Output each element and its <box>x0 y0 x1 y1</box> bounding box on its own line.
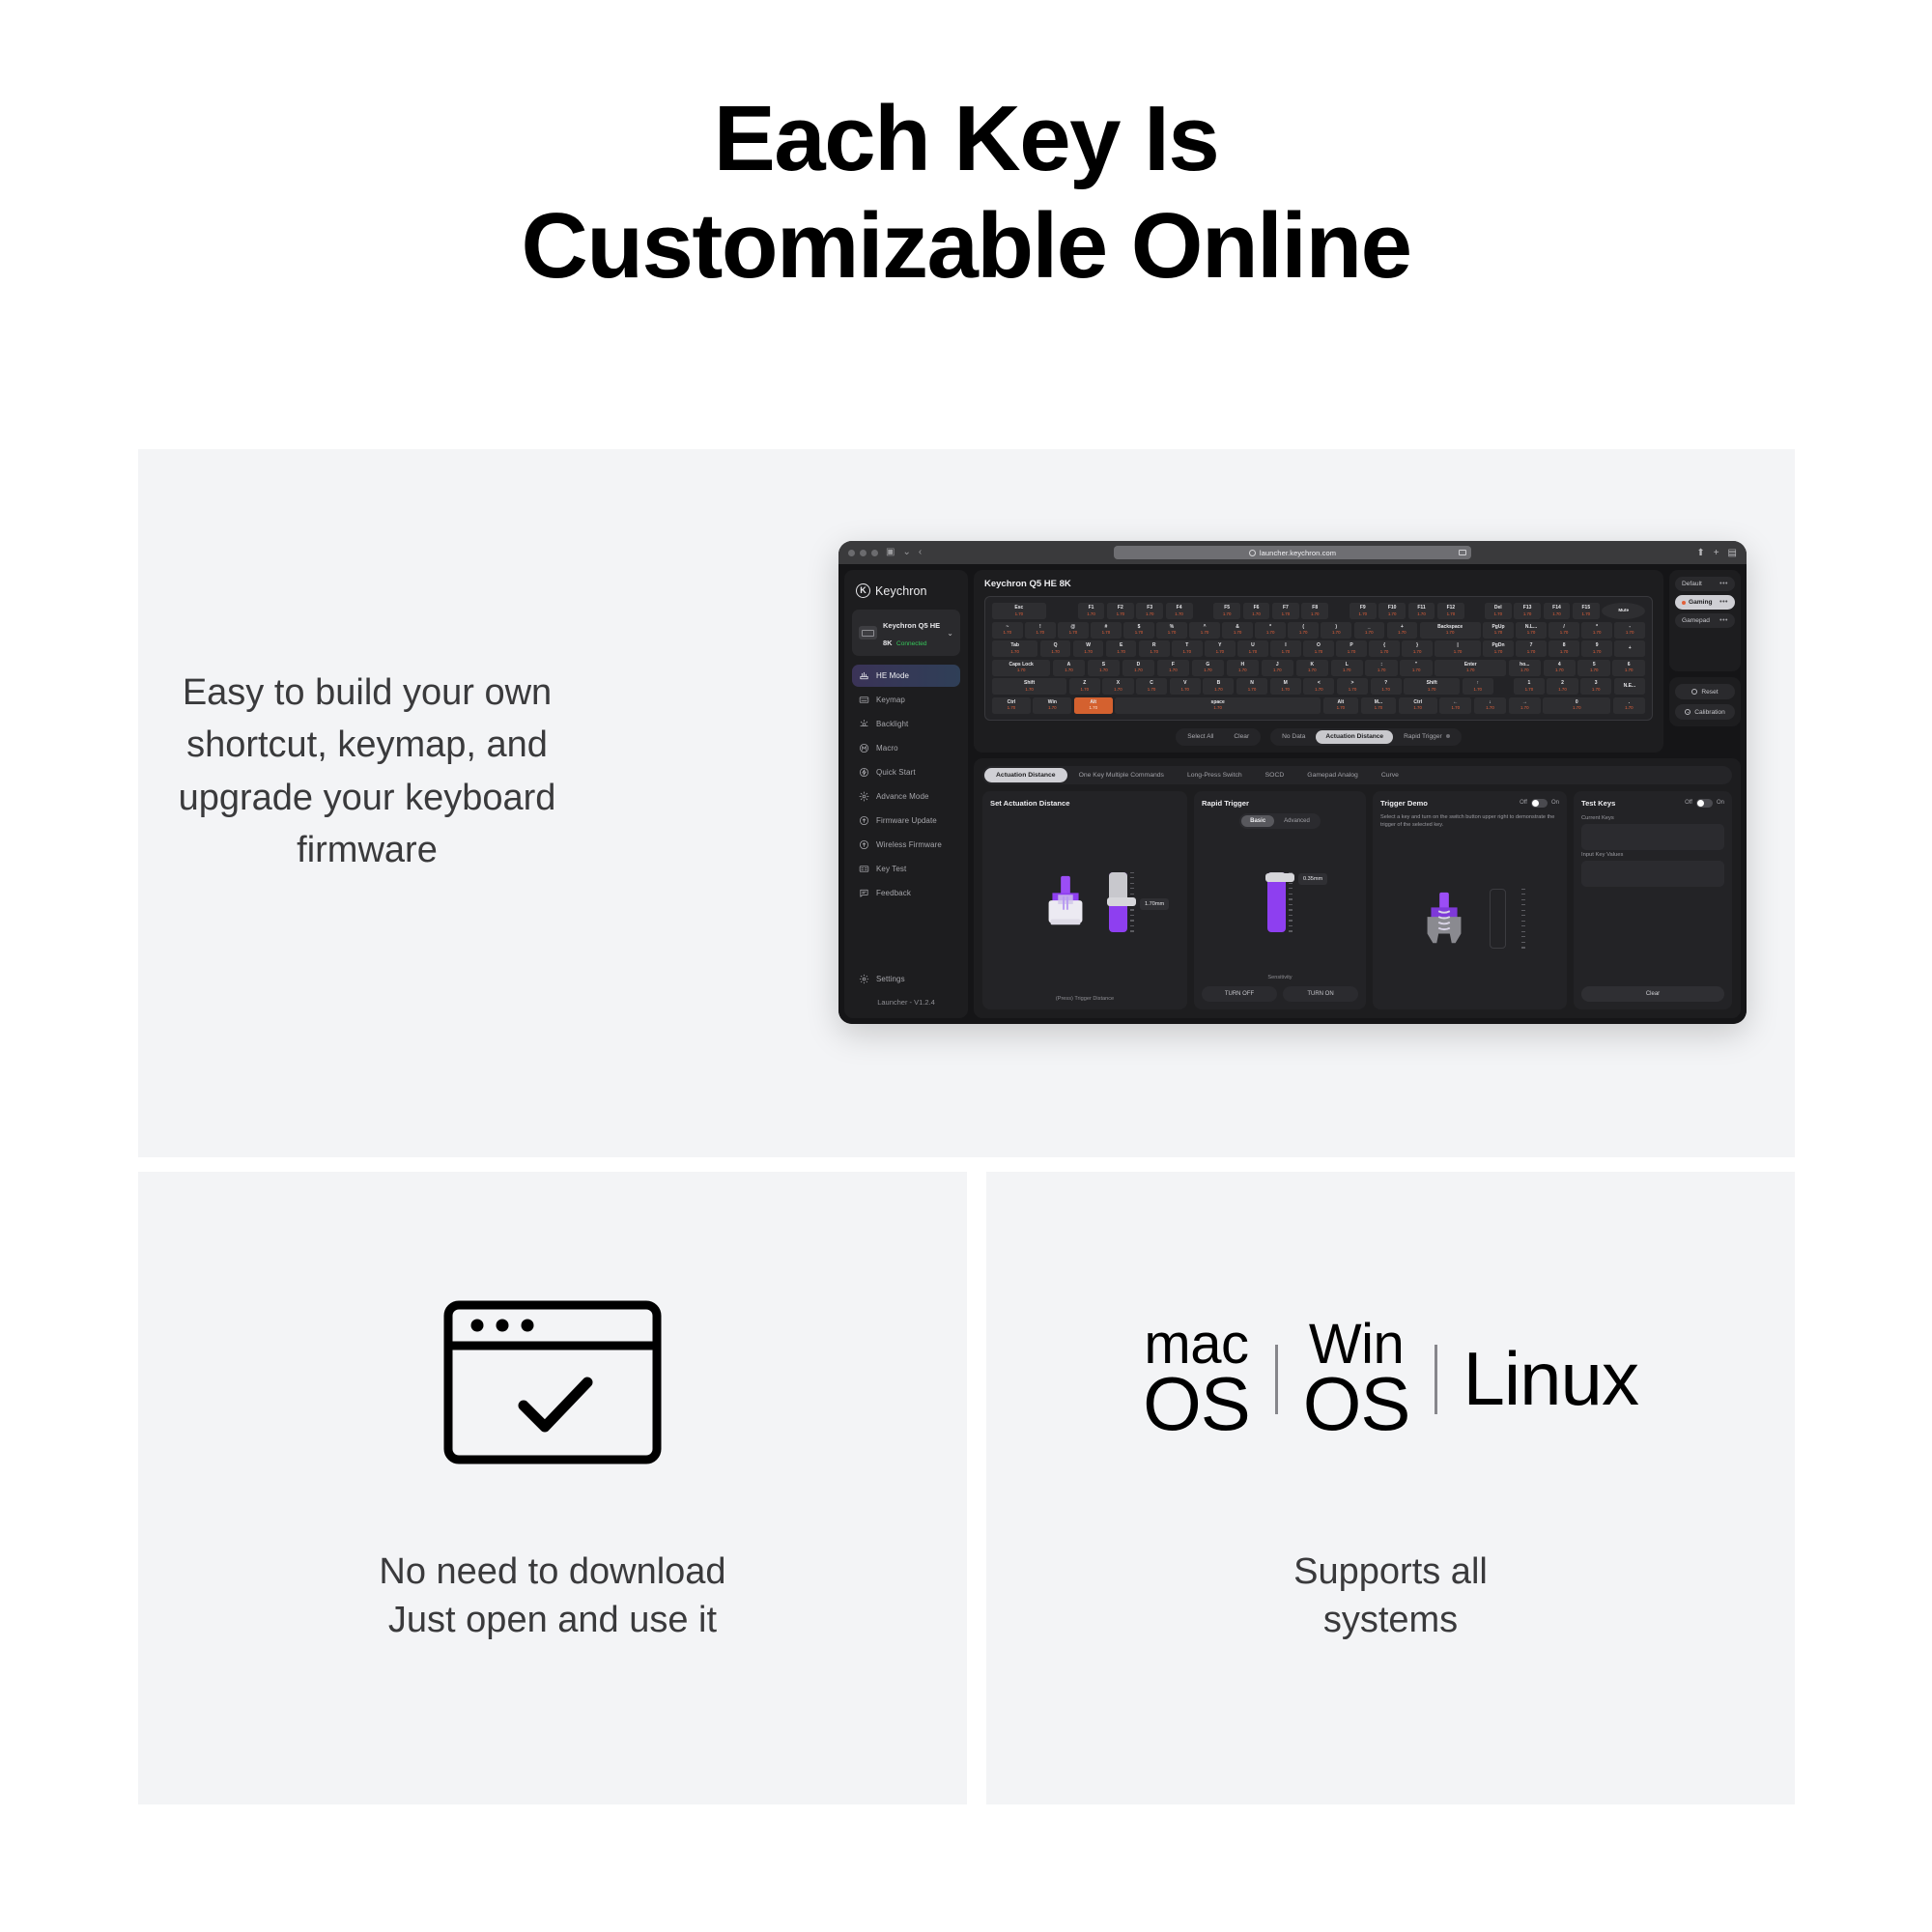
key-value: 1.70 <box>1378 668 1386 672</box>
sidebar-item-keymap[interactable]: Keymap <box>852 689 960 711</box>
key-N.L...[interactable]: N.L...1.70 <box>1516 622 1547 639</box>
key-label: 5 <box>1593 663 1596 668</box>
key-label: } <box>1416 643 1418 648</box>
panel-description: Select a key and turn on the switch butt… <box>1380 813 1559 830</box>
tab-gamepad-analog[interactable]: Gamepad Analog <box>1295 768 1370 782</box>
sidebar-item-backlight[interactable]: Backlight <box>852 713 960 735</box>
turn-on-button[interactable]: TURN ON <box>1283 986 1358 1002</box>
view-label: Rapid Trigger <box>1404 733 1442 740</box>
sensitivity-value-bubble: 0.35mm <box>1298 873 1327 885</box>
key-value: 1.70 <box>1380 650 1389 654</box>
key-Del[interactable]: Del1.70 <box>1485 603 1512 619</box>
key-Y[interactable]: Y1.70 <box>1205 640 1236 657</box>
key-4[interactable]: 41.70 <box>1544 660 1576 676</box>
key-label: B <box>1217 681 1221 686</box>
traffic-lights[interactable] <box>848 550 878 556</box>
os-name-bottom: Linux <box>1463 1345 1637 1414</box>
key-label: 8 <box>1563 643 1566 648</box>
key-Win[interactable]: Win1.70 <box>1033 697 1071 714</box>
key-G[interactable]: G1.70 <box>1192 660 1224 676</box>
action-clear[interactable]: Clear <box>1224 730 1259 744</box>
key-↓[interactable]: ↓1.70 <box>1474 697 1506 714</box>
sidebar-item-firmware-update[interactable]: Firmware Update <box>852 810 960 832</box>
key-value: 1.70 <box>1017 668 1026 672</box>
key-Backspace[interactable]: Backspace1.70 <box>1420 622 1481 639</box>
key-PgUp[interactable]: PgUp1.70 <box>1483 622 1514 639</box>
os-logos: macOSWinOSLinux <box>986 1319 1795 1439</box>
demo-ticks <box>1521 889 1525 949</box>
key-<[interactable]: <1.70 <box>1303 678 1334 695</box>
key-8[interactable]: 81.70 <box>1548 640 1579 657</box>
key-}[interactable]: }1.70 <box>1402 640 1433 657</box>
sidebar-item-key-test[interactable]: Key Test <box>852 858 960 880</box>
sidebar: K Keychron Keychron Q5 HE 8K Connected ⌄… <box>844 570 968 1018</box>
key-label: F1 <box>1089 606 1094 611</box>
key-value: 1.70 <box>1048 706 1057 710</box>
key-value: 1.70 <box>1527 650 1536 654</box>
sensitivity-slider[interactable]: 0.35mm <box>1267 872 1293 932</box>
key-F15[interactable]: F151.70 <box>1573 603 1600 619</box>
key-value: 1.70 <box>1375 706 1383 710</box>
upload-icon <box>859 839 869 850</box>
key-N[interactable]: N1.70 <box>1236 678 1267 695</box>
calibration-button[interactable]: Calibration <box>1675 704 1735 720</box>
key-→[interactable]: →1.70 <box>1509 697 1541 714</box>
key-label: F4 <box>1177 606 1182 611</box>
close-icon[interactable] <box>848 550 855 556</box>
key-@[interactable]: @1.70 <box>1058 622 1089 639</box>
quick-start-icon <box>859 767 869 778</box>
key-X[interactable]: X1.70 <box>1102 678 1133 695</box>
keyboard-icon <box>859 695 869 705</box>
actuation-slider[interactable]: 1.70mm <box>1109 872 1134 932</box>
key->[interactable]: >1.70 <box>1337 678 1368 695</box>
key-U[interactable]: U1.70 <box>1237 640 1268 657</box>
key-label: X <box>1117 681 1120 686</box>
sidebar-item-label: Key Test <box>876 865 906 873</box>
key-label: & <box>1236 625 1239 630</box>
key-#[interactable]: #1.70 <box>1091 622 1122 639</box>
caption-line-2: Just open and use it <box>138 1596 967 1644</box>
profile-menu-icon[interactable]: ••• <box>1719 599 1728 606</box>
key-F10[interactable]: F101.70 <box>1378 603 1406 619</box>
panel-title: Trigger Demo <box>1380 799 1428 808</box>
browser-check-icon <box>442 1299 663 1465</box>
key-ho...[interactable]: ho...1.70 <box>1509 660 1541 676</box>
key-S[interactable]: S1.70 <box>1088 660 1120 676</box>
key-F5[interactable]: F51.70 <box>1213 603 1240 619</box>
key-label: F14 <box>1552 606 1561 611</box>
os-logo-mac: macOS <box>1143 1319 1250 1439</box>
chrome-actions: ⬆ + ▤ <box>1696 548 1737 558</box>
key-|[interactable]: |1.70 <box>1435 640 1480 657</box>
key-label: Caps Lock <box>1009 663 1033 668</box>
key-value: 1.70 <box>1560 650 1569 654</box>
view-label: Actuation Distance <box>1325 733 1383 740</box>
key-label: space <box>1211 700 1225 705</box>
key-E[interactable]: E1.70 <box>1106 640 1137 657</box>
status-dot-icon <box>1446 734 1450 738</box>
keyboard-gap <box>1495 678 1511 695</box>
profile-label: Default <box>1682 581 1702 587</box>
test-keys-toggle[interactable]: Off On <box>1685 799 1724 808</box>
sensitivity-caption: Sensitivity <box>1202 975 1358 980</box>
key-Caps Lock[interactable]: Caps Lock1.70 <box>992 660 1050 676</box>
calibration-icon <box>1685 709 1690 715</box>
key-+[interactable]: + <box>1614 640 1645 657</box>
slider-knob[interactable] <box>1107 897 1136 906</box>
key-Mute[interactable]: Mute <box>1602 603 1645 619</box>
key-value: 1.70 <box>1337 706 1346 710</box>
key-value: 1.70 <box>1625 668 1634 672</box>
key-F3[interactable]: F31.70 <box>1136 603 1163 619</box>
key-value: 1.70 <box>1417 612 1426 616</box>
key-([interactable]: (1.70 <box>1288 622 1319 639</box>
caption-line-2: systems <box>986 1596 1795 1644</box>
key-B[interactable]: B1.70 <box>1203 678 1234 695</box>
key-7[interactable]: 71.70 <box>1516 640 1547 657</box>
key-label: Z <box>1083 681 1086 686</box>
trigger-demo-toggle[interactable]: Off On <box>1520 799 1559 808</box>
key-label: F8 <box>1312 606 1318 611</box>
toggle-switch[interactable] <box>1696 799 1713 808</box>
key-label: M... <box>1375 700 1382 705</box>
key-value: 1.70 <box>1223 612 1232 616</box>
key-label: { <box>1383 643 1385 648</box>
tab-curve[interactable]: Curve <box>1370 768 1410 782</box>
key-F11[interactable]: F111.70 <box>1408 603 1435 619</box>
address-bar[interactable]: launcher.keychron.com <box>1114 546 1471 559</box>
key-label: ) <box>1335 625 1337 630</box>
key-6[interactable]: 61.70 <box>1612 660 1644 676</box>
key-*[interactable]: *1.70 <box>1255 622 1286 639</box>
sidebar-item-label: HE Mode <box>876 671 909 680</box>
keyboard-row: Ctrl1.70Win1.70Alt1.70space1.70Alt1.70M.… <box>992 697 1645 714</box>
sidebar-item-quick-start[interactable]: Quick Start <box>852 761 960 783</box>
key-value: 1.70 <box>1494 650 1503 654</box>
app-version: Launcher - V1.2.4 <box>852 990 960 1010</box>
key-value: 1.70 <box>1315 650 1323 654</box>
key-3[interactable]: 31.70 <box>1580 678 1611 695</box>
sidebar-item-wireless-firmware[interactable]: Wireless Firmware <box>852 834 960 856</box>
key-value: 1.70 <box>1381 688 1390 692</box>
key-←[interactable]: ←1.70 <box>1439 697 1471 714</box>
key-$[interactable]: $1.70 <box>1123 622 1154 639</box>
key-label: D <box>1137 663 1141 668</box>
current-keys-field[interactable] <box>1581 824 1724 850</box>
key-F12[interactable]: F121.70 <box>1437 603 1464 619</box>
key-D[interactable]: D1.70 <box>1122 660 1154 676</box>
key-space[interactable]: space1.70 <box>1115 697 1321 714</box>
sidebar-settings-group: Settings <box>852 968 960 990</box>
key-value: 1.70 <box>1015 612 1024 616</box>
device-selector[interactable]: Keychron Q5 HE 8K Connected ⌄ <box>852 610 960 656</box>
sidebar-item-settings[interactable]: Settings <box>852 968 960 990</box>
key-Ctrl[interactable]: Ctrl1.70 <box>992 697 1031 714</box>
key-&[interactable]: &1.70 <box>1222 622 1253 639</box>
key-value: 1.70 <box>1428 688 1436 692</box>
key-C[interactable]: C1.70 <box>1136 678 1167 695</box>
os-name-bottom: OS <box>1143 1370 1250 1439</box>
key-value: 1.70 <box>1248 688 1257 692</box>
key-*[interactable]: *1.70 <box>1581 622 1612 639</box>
key-N.E...[interactable]: N.E... <box>1614 678 1645 695</box>
toggle-switch[interactable] <box>1531 799 1548 808</box>
page-title: Each Key Is Customizable Online <box>0 85 1932 300</box>
key-value: 1.70 <box>1359 612 1368 616</box>
key-:[interactable]: :1.70 <box>1365 660 1397 676</box>
key-?[interactable]: ?1.70 <box>1371 678 1402 695</box>
key-value: 1.70 <box>1065 668 1073 672</box>
key-0[interactable]: 01.70 <box>1543 697 1610 714</box>
share-icon[interactable]: ⬆ <box>1696 548 1704 558</box>
os-name-bottom: OS <box>1303 1370 1410 1439</box>
tab-actuation-distance[interactable]: Actuation Distance <box>984 768 1067 782</box>
key-Tab[interactable]: Tab1.70 <box>992 640 1037 657</box>
key-label: PgUp <box>1492 625 1504 630</box>
rapid-mode-advanced[interactable]: Advanced <box>1275 815 1319 827</box>
key-value: 1.70 <box>1365 631 1374 635</box>
key-value: 1.70 <box>1626 631 1634 635</box>
toggle-off-label: Off <box>1520 800 1527 806</box>
key-_[interactable]: _1.70 <box>1354 622 1385 639</box>
key-M...[interactable]: M...1.70 <box>1361 697 1397 714</box>
key-label: ^ <box>1204 625 1207 630</box>
clear-button[interactable]: Clear <box>1581 986 1724 1002</box>
key-value: 1.70 <box>1037 631 1045 635</box>
key-value: 1.70 <box>1010 650 1019 654</box>
profile-menu-icon[interactable]: ••• <box>1719 581 1728 587</box>
os-divider <box>1435 1345 1437 1414</box>
minimize-icon[interactable] <box>860 550 867 556</box>
chevron-down-icon[interactable]: ⌄ <box>947 629 953 638</box>
input-key-values-field[interactable] <box>1581 861 1724 887</box>
key-label: Ctrl <box>1413 700 1422 705</box>
key-W[interactable]: W1.70 <box>1073 640 1104 657</box>
key-+[interactable]: +1.70 <box>1387 622 1418 639</box>
profile-gaming[interactable]: Gaming••• <box>1675 595 1735 610</box>
tabs-overview-icon[interactable]: ▤ <box>1728 548 1737 558</box>
key-label: E <box>1120 643 1122 648</box>
upload-icon <box>859 815 869 826</box>
key-F14[interactable]: F141.70 <box>1544 603 1571 619</box>
key-value: 1.70 <box>1114 688 1122 692</box>
key-label: F13 <box>1523 606 1532 611</box>
key-V[interactable]: V1.70 <box>1170 678 1201 695</box>
profile-label: Gamepad <box>1682 617 1710 624</box>
key-value: 1.70 <box>1413 706 1422 710</box>
sidebar-item-he-mode[interactable]: HE Mode <box>852 665 960 687</box>
key-PgDn[interactable]: PgDn1.70 <box>1483 640 1514 657</box>
key-F7[interactable]: F71.70 <box>1272 603 1299 619</box>
gear-icon <box>859 974 869 984</box>
sidebar-item-advance-mode[interactable]: Advance Mode <box>852 785 960 808</box>
reset-button[interactable]: Reset <box>1675 684 1735 699</box>
chevron-down-icon[interactable]: ⌄ <box>902 548 910 557</box>
key-9[interactable]: 91.70 <box>1581 640 1612 657</box>
key-value: 1.70 <box>1558 688 1567 692</box>
feature-card-no-download <box>138 1172 967 1804</box>
key-2[interactable]: 21.70 <box>1547 678 1577 695</box>
tab-long-press-switch[interactable]: Long-Press Switch <box>1176 768 1254 782</box>
key-M[interactable]: M1.70 <box>1270 678 1301 695</box>
key-Ctrl[interactable]: Ctrl1.70 <box>1399 697 1437 714</box>
key-P[interactable]: P1.70 <box>1336 640 1367 657</box>
keyboard-layout[interactable]: Esc1.70F11.70F21.70F31.70F41.70F51.70F61… <box>984 596 1653 721</box>
key-label: L <box>1346 663 1349 668</box>
key-value: 1.70 <box>1008 706 1016 710</box>
key-J[interactable]: J1.70 <box>1262 660 1293 676</box>
key-Shift[interactable]: Shift1.70 <box>992 678 1066 695</box>
zoom-icon[interactable] <box>871 550 878 556</box>
feature-card-os-support <box>986 1172 1795 1804</box>
key-label: T <box>1185 643 1188 648</box>
key-/[interactable]: /1.70 <box>1548 622 1579 639</box>
key-label: R <box>1152 643 1156 648</box>
key-K[interactable]: K1.70 <box>1296 660 1328 676</box>
key-value: 1.70 <box>1134 668 1143 672</box>
reset-icon <box>1691 689 1697 695</box>
profile-gamepad[interactable]: Gamepad••• <box>1675 613 1735 628</box>
key-label: N.L... <box>1525 625 1537 630</box>
key-value: 1.70 <box>1183 650 1192 654</box>
reader-icon[interactable] <box>1459 550 1466 555</box>
key-Esc[interactable]: Esc1.70 <box>992 603 1046 619</box>
key-"[interactable]: "1.70 <box>1400 660 1432 676</box>
key-label: J <box>1276 663 1279 668</box>
key-Shift[interactable]: Shift1.70 <box>1404 678 1460 695</box>
key-value: 1.70 <box>1282 650 1291 654</box>
view-actuation-distance[interactable]: Actuation Distance <box>1316 730 1393 744</box>
he-mode-icon <box>859 670 869 681</box>
sidebar-item-macro[interactable]: Macro <box>852 737 960 759</box>
tab-one-key-multiple-commands[interactable]: One Key Multiple Commands <box>1067 768 1176 782</box>
action-label: Reset <box>1701 689 1718 696</box>
key-label: ? <box>1384 681 1387 686</box>
key-T[interactable]: T1.70 <box>1172 640 1203 657</box>
key-value: 1.70 <box>1089 706 1097 710</box>
key-label: F11 <box>1417 606 1425 611</box>
sidebar-item-label: Firmware Update <box>876 816 937 825</box>
key-label: : <box>1380 663 1382 668</box>
slider-knob[interactable] <box>1265 873 1294 882</box>
profiles-column: Default•••Gaming•••Gamepad••• ResetCalib… <box>1669 570 1741 753</box>
rapid-figure: 0.35mm <box>1202 835 1358 971</box>
key-↑[interactable]: ↑1.70 <box>1463 678 1493 695</box>
turn-off-button[interactable]: TURN OFF <box>1202 986 1277 1002</box>
key-F4[interactable]: F41.70 <box>1166 603 1193 619</box>
profiles-list: Default•••Gaming•••Gamepad••• <box>1669 570 1741 671</box>
key-value: 1.70 <box>1282 612 1291 616</box>
back-icon[interactable]: ‹ <box>919 548 922 557</box>
key-Q[interactable]: Q1.70 <box>1040 640 1071 657</box>
key-value: 1.70 <box>1099 668 1108 672</box>
demo-track <box>1490 889 1506 949</box>
key-label: < <box>1318 681 1321 686</box>
panel-title: Rapid Trigger <box>1202 799 1249 808</box>
gear-icon <box>859 791 869 802</box>
os-divider <box>1275 1345 1278 1414</box>
launcher-app: K Keychron Keychron Q5 HE 8K Connected ⌄… <box>838 564 1747 1024</box>
key-label: V <box>1183 681 1186 686</box>
view-mode-actions: No DataActuation DistanceRapid Trigger <box>1270 728 1462 746</box>
key-label: F15 <box>1582 606 1591 611</box>
key-~[interactable]: ~1.70 <box>992 622 1023 639</box>
key-value: 1.70 <box>1084 650 1093 654</box>
key-value: 1.70 <box>1180 688 1189 692</box>
key-%[interactable]: %1.70 <box>1156 622 1187 639</box>
selection-actions: Select AllClear <box>1176 728 1261 746</box>
rapid-mode-basic[interactable]: Basic <box>1241 815 1274 827</box>
key-value: 1.70 <box>1150 650 1158 654</box>
key-value: 1.70 <box>1213 706 1222 710</box>
key-F2[interactable]: F21.70 <box>1107 603 1134 619</box>
key-value: 1.70 <box>1520 706 1529 710</box>
key-R[interactable]: R1.70 <box>1139 640 1170 657</box>
view-no-data[interactable]: No Data <box>1272 730 1315 744</box>
action-select-all[interactable]: Select All <box>1178 730 1223 744</box>
tab-socd[interactable]: SOCD <box>1254 768 1296 782</box>
key--[interactable]: -1.70 <box>1614 622 1645 639</box>
key-label: @ <box>1070 625 1075 630</box>
key-F13[interactable]: F131.70 <box>1514 603 1541 619</box>
view-rapid-trigger[interactable]: Rapid Trigger <box>1394 730 1460 744</box>
key-{[interactable]: {1.70 <box>1369 640 1400 657</box>
key-![interactable]: !1.70 <box>1025 622 1056 639</box>
sidebar-toggle-icon[interactable]: ▣ <box>886 548 895 557</box>
key-A[interactable]: A1.70 <box>1053 660 1085 676</box>
key-Enter[interactable]: Enter1.70 <box>1435 660 1506 676</box>
keyboard-device-icon <box>859 626 877 639</box>
key-value: 1.70 <box>1102 631 1111 635</box>
key-value: 1.70 <box>1447 612 1456 616</box>
key-Alt[interactable]: Alt1.70 <box>1323 697 1359 714</box>
key-value: 1.70 <box>1080 688 1089 692</box>
key-F8[interactable]: F81.70 <box>1301 603 1328 619</box>
key-L[interactable]: L1.70 <box>1331 660 1363 676</box>
key-H[interactable]: H1.70 <box>1227 660 1259 676</box>
keyboard-row: ~1.70!1.70@1.70#1.70$1.70%1.70^1.70&1.70… <box>992 622 1645 639</box>
sidebar-item-feedback[interactable]: Feedback <box>852 882 960 904</box>
key-I[interactable]: I1.70 <box>1270 640 1301 657</box>
panel-rapid-trigger: Rapid Trigger BasicAdvanced <box>1194 791 1366 1010</box>
key-F[interactable]: F1.70 <box>1157 660 1189 676</box>
key-label: F3 <box>1147 606 1152 611</box>
key-^[interactable]: ^1.70 <box>1189 622 1220 639</box>
key-label: " <box>1415 663 1417 668</box>
profile-menu-icon[interactable]: ••• <box>1719 617 1728 624</box>
key-label: 4 <box>1558 663 1561 668</box>
new-tab-icon[interactable]: + <box>1714 548 1719 558</box>
key-.[interactable]: .1.70 <box>1613 697 1645 714</box>
key-F1[interactable]: F11.70 <box>1078 603 1105 619</box>
key-F9[interactable]: F91.70 <box>1350 603 1377 619</box>
key-label: Alt <box>1090 700 1096 705</box>
key-1[interactable]: 11.70 <box>1514 678 1545 695</box>
key-label: F6 <box>1254 606 1260 611</box>
key-Alt[interactable]: Alt1.70 <box>1074 697 1113 714</box>
key-label: Tab <box>1010 643 1019 648</box>
key-label: ! <box>1039 625 1041 630</box>
profile-default[interactable]: Default••• <box>1675 577 1735 591</box>
keyboard-gap <box>1195 603 1211 619</box>
key-F6[interactable]: F61.70 <box>1243 603 1270 619</box>
key-Z[interactable]: Z1.70 <box>1069 678 1100 695</box>
key-5[interactable]: 51.70 <box>1577 660 1609 676</box>
promo-description: Easy to build your own shortcut, keymap,… <box>164 667 570 876</box>
key-O[interactable]: O1.70 <box>1303 640 1334 657</box>
key-)[interactable]: )1.70 <box>1321 622 1351 639</box>
